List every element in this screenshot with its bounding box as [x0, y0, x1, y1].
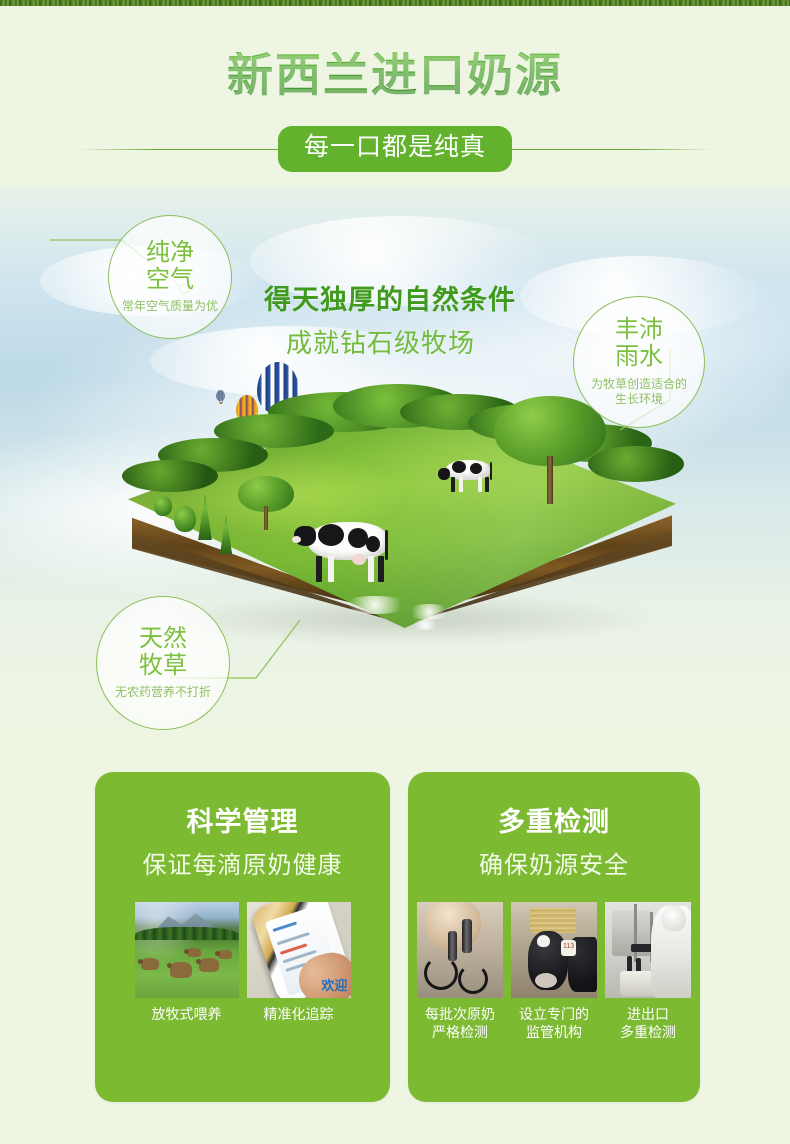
caption-line2: 严格检测 — [417, 1024, 503, 1042]
medium-tree-icon — [238, 476, 294, 532]
cow-patch — [452, 461, 466, 473]
badge-title-line1: 丰沛 — [615, 317, 663, 344]
photo-caption: 精准化追踪 — [247, 1006, 351, 1024]
photo-caption: 进出口 多重检测 — [605, 1006, 691, 1041]
subtitle-row: 每一口都是纯真 — [0, 126, 790, 174]
subtitle-pill: 每一口都是纯真 — [278, 126, 512, 172]
hero-headline-primary: 得天独厚的自然条件 — [264, 278, 516, 317]
milking-cup — [448, 931, 457, 961]
pasture-grazing-photo[interactable] — [135, 902, 239, 998]
ear-tag: 113 — [561, 940, 576, 955]
milking-cup — [462, 919, 472, 953]
hedge-row — [122, 460, 218, 492]
cow-snout — [292, 536, 301, 543]
card-multiple-testing: 多重检测 确保奶源安全 113 — [408, 772, 700, 1102]
cow-leg — [485, 477, 489, 492]
badge-title-line2: 雨水 — [615, 344, 663, 371]
hay-bale-shape — [530, 908, 576, 933]
treeline-shape — [135, 927, 239, 940]
cow-leg — [316, 556, 322, 582]
caption-line2: 多重检测 — [605, 1024, 691, 1042]
card-subtitle: 确保奶源安全 — [479, 845, 629, 880]
tree-trunk — [264, 506, 268, 530]
card-subtitle: 保证每滴原奶健康 — [143, 845, 343, 880]
badge-title-line1: 天然 — [139, 626, 187, 653]
product-detail-page: 新西兰进口奶源 每一口都是纯真 得天独厚的自然条件 — [0, 0, 790, 1144]
wildflower-patch — [410, 620, 440, 630]
badge-description-line1: 为牧草创造适合的 — [591, 377, 687, 392]
shrub-icon — [174, 506, 196, 532]
grazing-cow-icon — [170, 962, 192, 978]
caption-line1: 设立专门的 — [511, 1006, 597, 1024]
lab-worker-photo[interactable] — [605, 902, 691, 998]
page-title: 新西兰进口奶源 — [0, 52, 790, 98]
cow-background — [436, 456, 498, 500]
page-header: 新西兰进口奶源 — [0, 52, 790, 98]
cow-tail — [490, 462, 492, 480]
grazing-cow-icon — [199, 958, 219, 972]
badge-abundant-rain: 丰沛 雨水 为牧草创造适合的 生长环境 — [573, 296, 705, 428]
cow-tail — [385, 530, 388, 560]
badge-pure-air: 纯净 空气 常年空气质量为优 — [108, 215, 232, 339]
cow-leg — [459, 477, 463, 492]
phone-tracking-photo[interactable]: 欢迎 — [247, 902, 351, 998]
cow-udder — [352, 554, 366, 565]
grass-texture-strip — [0, 0, 790, 6]
badge-description: 常年空气质量为优 — [122, 299, 218, 314]
photo-caption: 设立专门的 监管机构 — [511, 1006, 597, 1041]
photo-caption: 放牧式喂养 — [135, 1006, 239, 1024]
badge-title-line1: 纯净 — [146, 240, 194, 267]
badge-title-line2: 牧草 — [139, 653, 187, 680]
equipment-rod — [634, 904, 637, 962]
caption-line1: 每批次原奶 — [417, 1006, 503, 1024]
photo-caption: 每批次原奶 严格检测 — [417, 1006, 503, 1041]
cow-leg — [368, 556, 374, 582]
tagged-cow-photo[interactable]: 113 — [511, 902, 597, 998]
card-caption-row: 放牧式喂养 精准化追踪 — [135, 1006, 351, 1024]
grazing-cow-icon — [141, 958, 159, 970]
milking-hose — [458, 964, 488, 994]
card-caption-row: 每批次原奶 严格检测 设立专门的 监管机构 进出口 多重检测 — [417, 1006, 691, 1041]
cow-leg — [378, 556, 384, 582]
cow-foreground — [290, 516, 400, 590]
grazing-cow-icon — [218, 950, 232, 959]
grazing-cow-icon — [187, 948, 201, 957]
feature-cards: 科学管理 保证每滴原奶健康 — [95, 772, 700, 1102]
cow-leg — [328, 556, 334, 582]
shrub-icon — [154, 496, 172, 516]
card-scientific-management: 科学管理 保证每滴原奶健康 — [95, 772, 390, 1102]
milking-hose — [424, 956, 458, 990]
cow-patch — [318, 524, 344, 546]
card-photo-row: 113 — [417, 902, 691, 998]
hero-headline-secondary: 成就钻石级牧场 — [264, 323, 516, 360]
badge-natural-grass: 天然 牧草 无农药营养不打折 — [96, 596, 230, 730]
cow-forehead-blaze — [537, 935, 550, 947]
badge-description-line2: 生长环境 — [615, 392, 663, 407]
screen-line — [273, 922, 297, 932]
cow-patch — [366, 536, 380, 552]
card-title: 多重检测 — [498, 800, 610, 839]
card-title: 科学管理 — [187, 800, 299, 839]
caption-line1: 进出口 — [605, 1006, 691, 1024]
cow-patch — [348, 528, 368, 548]
worker-hood — [662, 906, 686, 931]
cow-patch — [470, 463, 482, 474]
milking-machine-photo[interactable] — [417, 902, 503, 998]
cow-leg — [478, 477, 482, 492]
cow-leg — [451, 477, 455, 492]
hero-headline: 得天独厚的自然条件 成就钻石级牧场 — [264, 278, 516, 360]
phone-badge-text: 欢迎 — [321, 975, 347, 994]
badge-description: 无农药营养不打折 — [115, 685, 211, 700]
card-photo-row: 欢迎 — [135, 902, 351, 998]
caption-line2: 监管机构 — [511, 1024, 597, 1042]
badge-title-line2: 空气 — [146, 267, 194, 294]
wildflower-patch — [406, 604, 452, 620]
tree-trunk — [547, 456, 553, 504]
cow-head — [438, 468, 450, 480]
